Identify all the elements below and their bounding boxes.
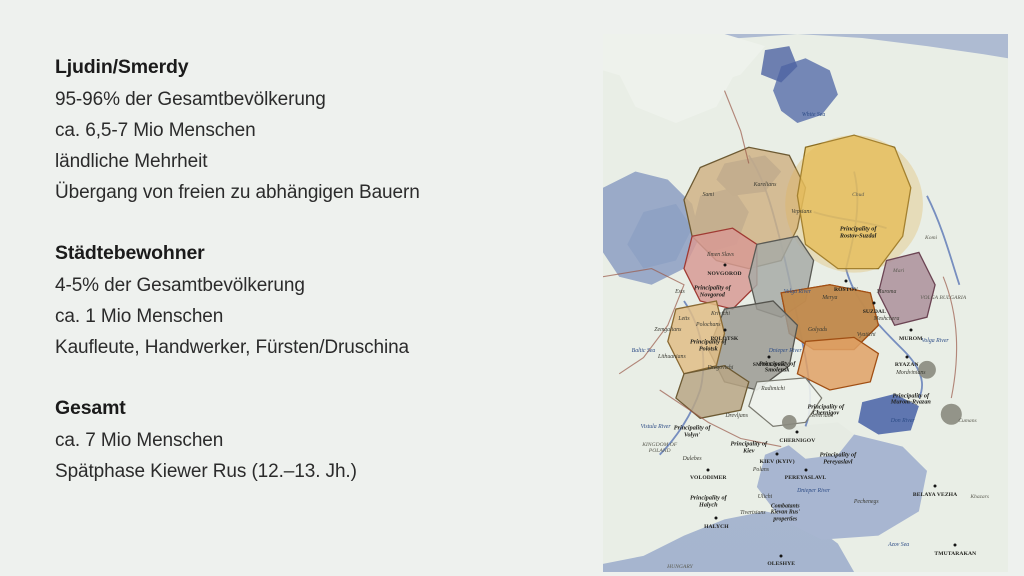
block-line: ca. 6,5-7 Mio Menschen bbox=[55, 115, 525, 146]
map-city-dot bbox=[780, 554, 783, 557]
block-line: Übergang von freien zu abhängigen Bauern bbox=[55, 177, 525, 208]
block-heading: Ljudin/Smerdy bbox=[55, 52, 525, 83]
map-city-dot bbox=[909, 328, 912, 331]
map-city-dot bbox=[723, 328, 726, 331]
map-city-dot bbox=[715, 517, 718, 520]
block-line: ca. 1 Mio Menschen bbox=[55, 301, 525, 332]
text-column: Ljudin/Smerdy 95-96% der Gesamtbevölkeru… bbox=[55, 52, 525, 487]
map-city-dot bbox=[796, 431, 799, 434]
map-city-dot bbox=[905, 355, 908, 358]
block-line: Spätphase Kiewer Rus (12.–13. Jh.) bbox=[55, 456, 525, 487]
map-city-dot bbox=[723, 264, 726, 267]
block-line: Kaufleute, Handwerker, Fürsten/Druschina bbox=[55, 332, 525, 363]
block-line: ca. 7 Mio Menschen bbox=[55, 425, 525, 456]
map-city-dot bbox=[934, 484, 937, 487]
kievan-rus-map: Principality ofRostov-SuzdalPrincipality… bbox=[603, 34, 1008, 572]
map-illustration bbox=[603, 34, 1008, 572]
map-city-dot bbox=[707, 468, 710, 471]
map-city-dot bbox=[804, 468, 807, 471]
map-city-dot bbox=[873, 302, 876, 305]
block-line: 95-96% der Gesamtbevölkerung bbox=[55, 84, 525, 115]
block-line: ländliche Mehrheit bbox=[55, 146, 525, 177]
content-block-ljudin-smerdy: Ljudin/Smerdy 95-96% der Gesamtbevölkeru… bbox=[55, 52, 525, 208]
slide-root: Ljudin/Smerdy 95-96% der Gesamtbevölkeru… bbox=[0, 0, 1024, 576]
map-city-dot bbox=[776, 452, 779, 455]
content-block-staedtebewohner: Städtebewohner 4-5% der Gesamtbevölkerun… bbox=[55, 238, 525, 363]
map-city-dot bbox=[954, 544, 957, 547]
block-line: 4-5% der Gesamtbevölkerung bbox=[55, 270, 525, 301]
map-city-dot bbox=[845, 280, 848, 283]
block-heading: Städtebewohner bbox=[55, 238, 525, 269]
block-heading: Gesamt bbox=[55, 393, 525, 424]
map-city-dot bbox=[768, 355, 771, 358]
content-block-gesamt: Gesamt ca. 7 Mio Menschen Spätphase Kiew… bbox=[55, 393, 525, 487]
